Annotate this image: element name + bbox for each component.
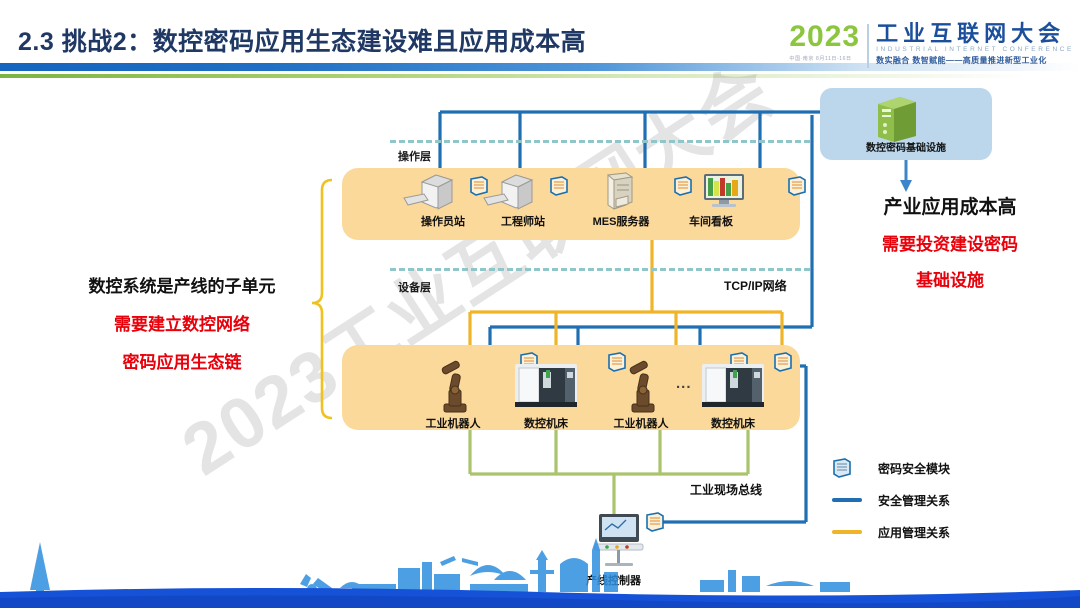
left-callout-line3: 密码应用生态链 <box>48 348 316 373</box>
network-label: TCP/IP网络 <box>724 277 787 294</box>
right-callout: 产业应用成本高 需要投资建设密码 基础设施 <box>840 192 1060 291</box>
crypto-module-chip-icon <box>832 458 866 478</box>
node-label: 操作员站 <box>400 213 486 229</box>
legend-label: 安全管理关系 <box>878 492 950 509</box>
green-server-icon <box>870 92 930 144</box>
cnc-machine-icon <box>690 358 776 414</box>
robot-arm-icon <box>598 358 684 414</box>
node-label: 工业机器人 <box>410 415 496 431</box>
cnc-machine-icon <box>503 358 589 414</box>
crypto-module-chip[interactable] <box>787 176 807 196</box>
robot-arm-icon <box>410 358 496 414</box>
controller-label: 产线控制器 <box>586 572 641 588</box>
legend-label: 密码安全模块 <box>878 460 950 477</box>
legend-item-application-relation: 应用管理关系 <box>832 516 1032 548</box>
legend-label: 应用管理关系 <box>878 524 950 541</box>
left-callout: 数控系统是产线的子单元 需要建立数控网络 密码应用生态链 <box>48 272 316 373</box>
right-callout-line1: 产业应用成本高 <box>840 192 1060 219</box>
left-callout-line2: 需要建立数控网络 <box>48 310 316 335</box>
node-industrial-robot-2[interactable]: 工业机器人 <box>598 358 684 431</box>
node-label: 车间看板 <box>668 213 754 229</box>
application-line-swatch <box>832 522 866 542</box>
node-label: MES服务器 <box>578 213 664 229</box>
node-label: 工业机器人 <box>598 415 684 431</box>
node-label: 工程师站 <box>480 213 566 229</box>
crypto-module-chip[interactable] <box>773 352 793 372</box>
security-line-swatch <box>832 490 866 510</box>
infrastructure-card[interactable]: 数控密码基础设施 <box>820 88 992 160</box>
node-cnc-machine-1[interactable]: 数控机床 <box>503 358 589 431</box>
legend-item-crypto-module: 密码安全模块 <box>832 452 1032 484</box>
legend-item-security-relation: 安全管理关系 <box>832 484 1032 516</box>
dashboard-screen-icon <box>668 168 754 212</box>
node-label: 数控机床 <box>690 415 776 431</box>
node-label: 数控机床 <box>503 415 589 431</box>
divider-lower <box>390 268 810 271</box>
fieldbus-lines <box>470 430 748 520</box>
legend: 密码安全模块 安全管理关系 应用管理关系 <box>832 452 1032 548</box>
infrastructure-label: 数控密码基础设施 <box>820 139 992 154</box>
left-callout-line1: 数控系统是产线的子单元 <box>48 272 316 297</box>
right-callout-line3: 基础设施 <box>840 266 1060 291</box>
device-layer-label: 设备层 <box>398 279 431 295</box>
operation-layer-label: 操作层 <box>398 148 431 164</box>
right-callout-line2: 需要投资建设密码 <box>840 230 1060 255</box>
crypto-module-chip[interactable] <box>645 512 665 532</box>
infra-to-cost-arrow <box>900 160 912 192</box>
crypto-module-chip[interactable] <box>549 176 569 196</box>
node-industrial-robot-1[interactable]: 工业机器人 <box>410 358 496 431</box>
node-mes-server[interactable]: MES服务器 <box>578 168 664 229</box>
slide-canvas: 2.3 挑战2：数控密码应用生态建设难且应用成本高 2023 中国·南京 8月1… <box>0 0 1080 608</box>
divider-upper <box>390 140 810 143</box>
server-icon <box>578 168 664 212</box>
node-workshop-dashboard[interactable]: 车间看板 <box>668 168 754 229</box>
fieldbus-label: 工业现场总线 <box>690 481 762 498</box>
node-cnc-machine-2[interactable]: 数控机床 <box>690 358 776 431</box>
